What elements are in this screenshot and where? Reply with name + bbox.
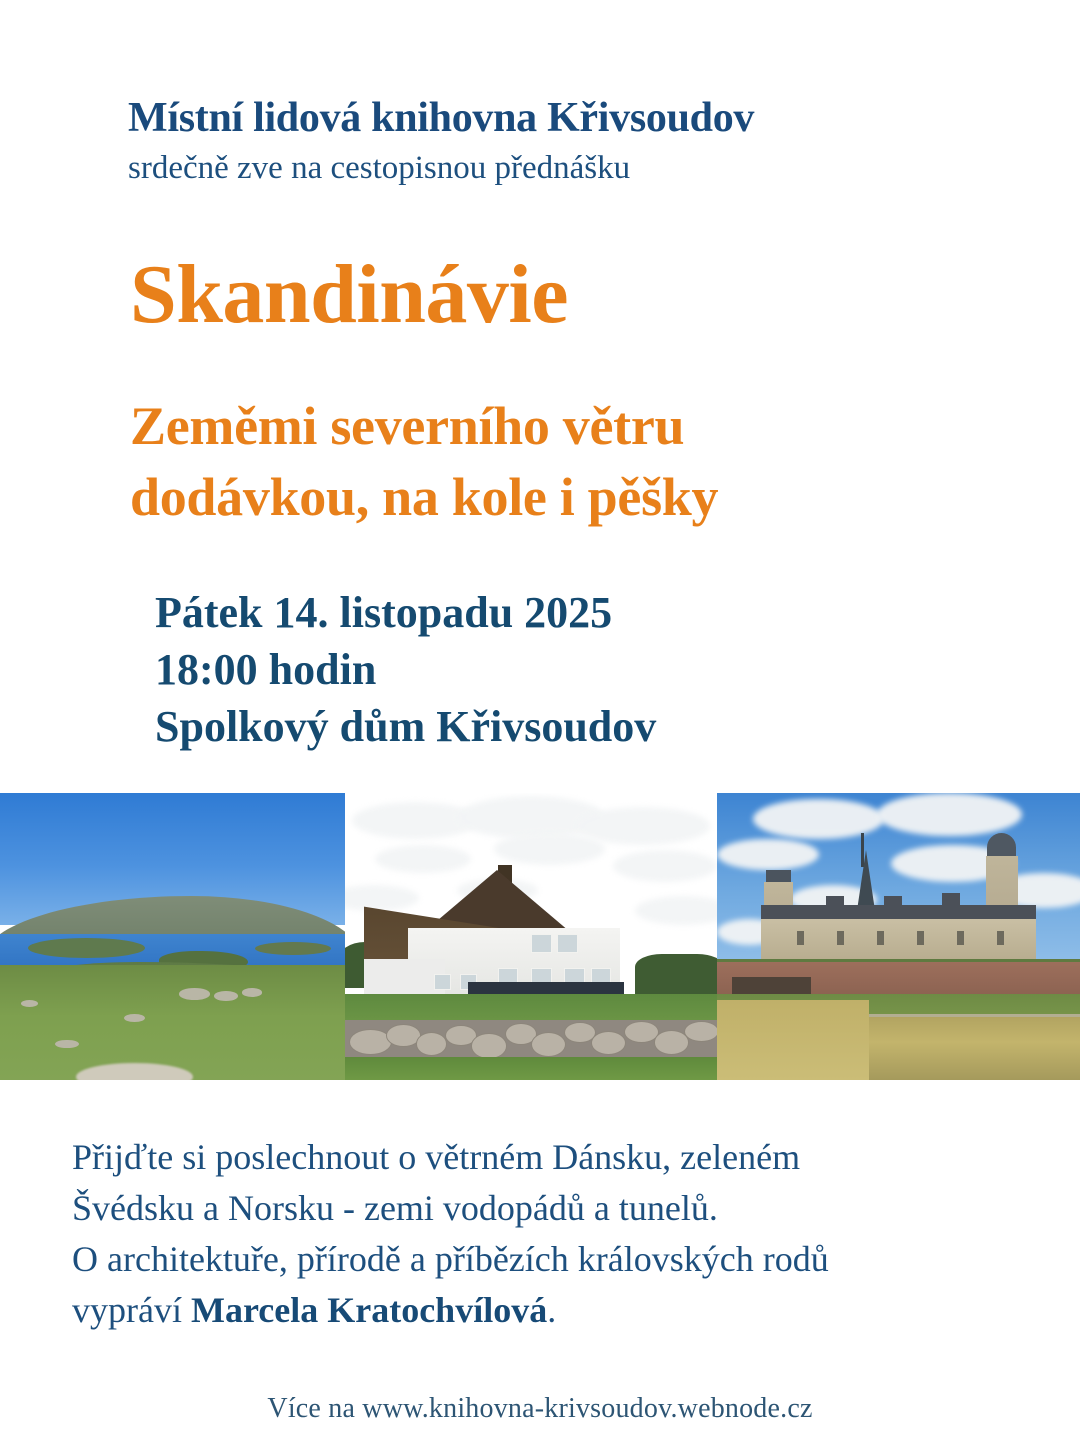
stone-wall bbox=[345, 1020, 717, 1060]
event-date: Pátek 14. listopadu 2025 bbox=[155, 584, 1015, 641]
castle-window bbox=[877, 931, 884, 945]
photo-kronborg-castle bbox=[717, 793, 1080, 1080]
boulder bbox=[214, 991, 238, 1001]
stone bbox=[471, 1033, 506, 1058]
poster-root: Místní lidová knihovna Křivsoudov srdečn… bbox=[0, 0, 1080, 1440]
castle-window bbox=[837, 931, 844, 945]
body-line-3: O architektuře, přírodě a příbězích král… bbox=[72, 1234, 1032, 1285]
event-time: 18:00 hodin bbox=[155, 641, 1015, 698]
lawn-lower bbox=[345, 1057, 717, 1080]
photo-denmark-thatched-farmhouse bbox=[345, 793, 717, 1080]
boulder bbox=[242, 988, 263, 997]
background-hedge bbox=[635, 954, 717, 997]
header-block: Místní lidová knihovna Křivsoudov srdečn… bbox=[128, 96, 988, 187]
roof-gable bbox=[826, 896, 844, 910]
subtitle-block: Zeměmi severního větru dodávkou, na kole… bbox=[130, 392, 1010, 532]
window bbox=[434, 974, 451, 990]
event-venue: Spolkový dům Křivsoudov bbox=[155, 698, 1015, 755]
event-details-block: Pátek 14. listopadu 2025 18:00 hodin Spo… bbox=[155, 584, 1015, 756]
castle-window bbox=[957, 931, 964, 945]
subtitle-line-1: Zeměmi severního větru bbox=[130, 392, 1010, 461]
islet-a bbox=[28, 938, 145, 958]
organization-name: Místní lidová knihovna Křivsoudov bbox=[128, 96, 988, 141]
castle-window bbox=[797, 931, 804, 945]
cloud bbox=[753, 799, 884, 839]
invitation-line: srdečně zve na cestopisnou přednášku bbox=[128, 150, 988, 187]
body-line-2: Švédsku a Norsku - zemi vodopádů a tunel… bbox=[72, 1183, 1032, 1234]
cloud bbox=[494, 833, 606, 865]
window bbox=[531, 934, 552, 953]
body-paragraph: Přijďte si poslechnout o větrném Dánsku,… bbox=[72, 1132, 1032, 1336]
body-line-4-suffix: . bbox=[547, 1290, 556, 1330]
stone bbox=[684, 1021, 717, 1042]
castle-window bbox=[997, 931, 1004, 945]
subtitle-line-2: dodávkou, na kole i pěšky bbox=[130, 463, 1010, 532]
body-line-1: Přijďte si poslechnout o větrném Dánsku,… bbox=[72, 1132, 1032, 1183]
photo-strip bbox=[0, 793, 1080, 1080]
castle-window bbox=[917, 931, 924, 945]
page-title: Skandinávie bbox=[130, 253, 568, 337]
roof-gable bbox=[942, 893, 960, 910]
photo-norway-fjell-lake bbox=[0, 793, 345, 1080]
stone bbox=[416, 1032, 448, 1056]
stone bbox=[531, 1032, 566, 1057]
roof-gable bbox=[884, 896, 902, 910]
boulder bbox=[124, 1014, 145, 1022]
boulder bbox=[179, 988, 210, 999]
window bbox=[557, 934, 578, 953]
cloud bbox=[717, 839, 819, 871]
dry-grass-foreground-left bbox=[717, 1000, 869, 1080]
body-line-4: vypráví Marcela Kratochvílová. bbox=[72, 1285, 1032, 1336]
body-line-4-prefix: vypráví bbox=[72, 1290, 191, 1330]
cloud bbox=[613, 850, 717, 882]
tundra-meadow bbox=[0, 965, 345, 1080]
boulder bbox=[21, 1000, 38, 1007]
stone bbox=[349, 1029, 392, 1055]
footer-website[interactable]: Více na www.knihovna-krivsoudov.webnode.… bbox=[0, 1393, 1080, 1425]
cloud bbox=[877, 793, 1022, 836]
lecturer-name: Marcela Kratochvílová bbox=[191, 1290, 547, 1330]
stone bbox=[591, 1031, 626, 1055]
